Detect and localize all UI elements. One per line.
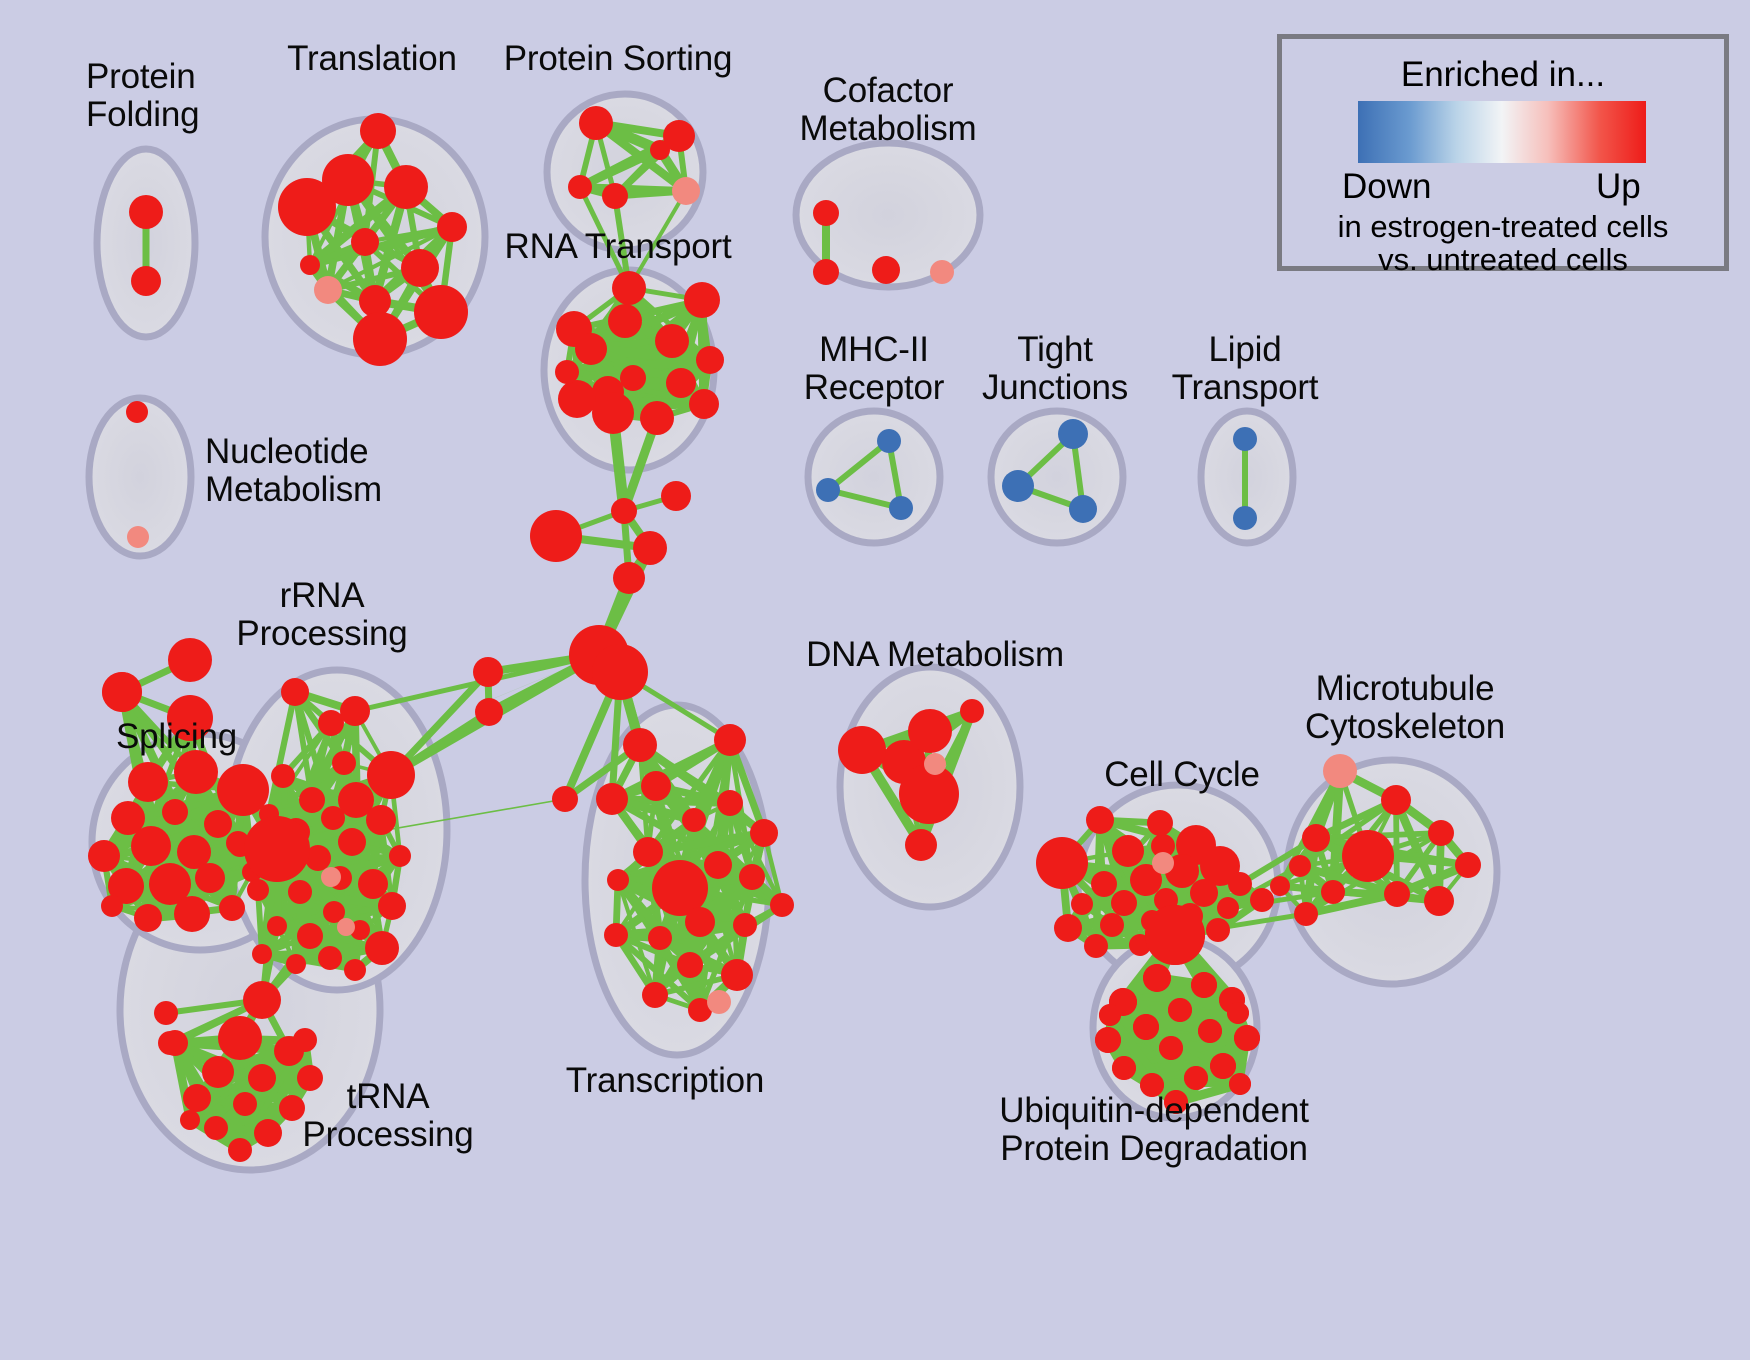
gene-set-node: [131, 266, 161, 296]
gene-set-node: [344, 959, 366, 981]
gene-set-node: [437, 212, 467, 242]
gene-set-node: [707, 990, 731, 1014]
gene-set-node: [1036, 837, 1088, 889]
cluster-label-translation: Translation: [287, 40, 457, 78]
gene-set-node: [162, 799, 188, 825]
gene-set-node: [1147, 810, 1173, 836]
gene-set-node: [568, 175, 592, 199]
gene-set-node: [131, 826, 171, 866]
gene-set-node: [677, 952, 703, 978]
legend-sub-line-2: vs. untreated cells: [1282, 242, 1724, 278]
gene-set-node: [960, 699, 984, 723]
gene-set-node: [608, 304, 642, 338]
gene-set-node: [1342, 830, 1394, 882]
gene-set-node: [655, 324, 689, 358]
gene-set-node: [168, 638, 212, 682]
gene-set-node: [1002, 470, 1034, 502]
gene-set-node: [1091, 871, 1117, 897]
gene-set-node: [1424, 886, 1454, 916]
gene-set-node: [1184, 1066, 1208, 1090]
gene-set-node: [648, 926, 672, 950]
gene-set-node: [314, 276, 342, 304]
gene-set-node: [684, 282, 720, 318]
gene-set-node: [293, 1028, 317, 1052]
gene-set-node: [1233, 427, 1257, 451]
gene-set-node: [1152, 852, 1174, 874]
gene-set-node: [1198, 1019, 1222, 1043]
legend-sub-line-1: in estrogen-treated cells: [1282, 209, 1724, 245]
gene-set-node: [877, 429, 901, 453]
gene-set-node: [102, 672, 142, 712]
gene-set-node: [299, 787, 325, 813]
gene-set-node: [1086, 806, 1114, 834]
gene-set-node: [353, 312, 407, 366]
gene-set-node: [384, 165, 428, 209]
legend-low-label: Down: [1342, 167, 1431, 207]
gene-set-node: [689, 389, 719, 419]
figure-canvas: Protein FoldingTranslationProtein Sortin…: [0, 0, 1750, 1360]
gene-set-node: [642, 982, 668, 1008]
gene-set-node: [183, 1084, 211, 1112]
gene-set-node: [248, 1064, 276, 1092]
gene-set-node: [1233, 506, 1257, 530]
cluster-label-ubiquitin: Ubiquitin-dependent Protein Degradation: [999, 1092, 1309, 1168]
gene-set-node: [1210, 1053, 1236, 1079]
gene-set-node: [1294, 902, 1318, 926]
gene-set-node: [351, 228, 379, 256]
gene-set-node: [650, 140, 670, 160]
cluster-label-mhc-ii: MHC-II Receptor: [804, 331, 944, 407]
gene-set-node: [661, 481, 691, 511]
legend-box: Enriched in... Down Up in estrogen-treat…: [1277, 34, 1729, 271]
gene-set-node: [733, 913, 757, 937]
gene-set-node: [1133, 1014, 1159, 1040]
gene-set-node: [905, 829, 937, 861]
gene-set-node: [555, 360, 579, 384]
cluster-label-protein-sorting: Protein Sorting: [504, 40, 733, 78]
gene-set-node: [174, 896, 210, 932]
gene-set-node: [604, 923, 628, 947]
gene-set-node: [685, 907, 715, 937]
gene-set-node: [204, 1116, 228, 1140]
gene-set-node: [1112, 1056, 1136, 1080]
gene-set-node: [358, 869, 388, 899]
gene-set-node: [279, 1095, 305, 1121]
gene-set-node: [1058, 419, 1088, 449]
gene-set-node: [233, 1092, 257, 1116]
gene-set-node: [620, 365, 646, 391]
gene-set-node: [924, 753, 946, 775]
gene-set-node: [1069, 495, 1097, 523]
gene-set-node: [218, 1016, 262, 1060]
gene-set-node: [288, 880, 312, 904]
gene-set-node: [300, 255, 320, 275]
gene-set-node: [1054, 914, 1082, 942]
gene-set-node: [640, 401, 674, 435]
gene-set-node: [930, 260, 954, 284]
gene-set-node: [714, 724, 746, 756]
gene-set-node: [1145, 905, 1205, 965]
cluster-label-cofactor-metab: Cofactor Metabolism: [800, 72, 977, 148]
gene-set-node: [340, 696, 370, 726]
gene-set-node: [252, 944, 272, 964]
gene-set-node: [180, 1110, 200, 1130]
gene-set-node: [1270, 876, 1290, 896]
gene-set-node: [813, 259, 839, 285]
gene-set-node: [612, 271, 646, 305]
gene-set-node: [267, 916, 287, 936]
gene-set-node: [247, 879, 269, 901]
gene-set-node: [475, 698, 503, 726]
legend-color-bar: [1358, 101, 1646, 163]
cluster-label-rna-transport: RNA Transport: [505, 228, 732, 266]
gene-set-node: [271, 764, 295, 788]
gene-set-node: [318, 710, 344, 736]
gene-set-node: [602, 183, 628, 209]
gene-set-node: [717, 790, 743, 816]
gene-set-node: [367, 751, 415, 799]
cluster-label-protein-folding: Protein Folding: [86, 58, 199, 134]
gene-set-node: [739, 864, 765, 890]
cluster-label-trna-processing: tRNA Processing: [302, 1078, 473, 1154]
gene-set-node: [174, 750, 218, 794]
cluster-label-nucleotide-metab: Nucleotide Metabolism: [205, 433, 382, 509]
gene-set-node: [1250, 888, 1274, 912]
gene-set-node: [286, 954, 306, 974]
cluster-label-microtubule: Microtubule Cytoskeleton: [1305, 670, 1505, 746]
gene-set-node: [128, 762, 168, 802]
gene-set-node: [366, 805, 396, 835]
gene-set-node: [672, 177, 700, 205]
gene-set-node: [592, 392, 634, 434]
gene-set-node: [1321, 880, 1345, 904]
gene-set-node: [1111, 890, 1137, 916]
gene-set-node: [243, 981, 281, 1019]
gene-set-node: [813, 200, 839, 226]
gene-set-node: [228, 1138, 252, 1162]
gene-set-node: [721, 959, 753, 991]
gene-set-node: [530, 510, 582, 562]
gene-set-node: [633, 531, 667, 565]
cluster-ellipse-mhc-ii: [808, 411, 940, 543]
gene-set-node: [1159, 1036, 1183, 1060]
gene-set-node: [337, 918, 355, 936]
gene-set-node: [134, 904, 162, 932]
gene-set-node: [401, 249, 439, 287]
cluster-label-cell-cycle: Cell Cycle: [1104, 756, 1260, 794]
gene-set-node: [1428, 820, 1454, 846]
gene-set-node: [750, 819, 778, 847]
gene-set-node: [254, 1119, 282, 1147]
cluster-label-tight-junctions: Tight Junctions: [982, 331, 1128, 407]
gene-set-node: [332, 751, 356, 775]
gene-set-node: [127, 526, 149, 548]
gene-set-node: [1228, 872, 1252, 896]
gene-set-node: [558, 380, 596, 418]
gene-set-node: [1217, 897, 1239, 919]
gene-set-node: [770, 893, 794, 917]
gene-set-node: [321, 867, 341, 887]
gene-set-node: [889, 496, 913, 520]
legend-title: Enriched in...: [1282, 55, 1724, 95]
gene-set-node: [696, 346, 724, 374]
gene-set-node: [1227, 1002, 1249, 1024]
gene-set-node: [1455, 852, 1481, 878]
gene-set-node: [579, 106, 613, 140]
gene-set-node: [592, 644, 648, 700]
gene-set-node: [204, 810, 232, 838]
cluster-label-dna-metabolism: DNA Metabolism: [806, 636, 1064, 674]
gene-set-node: [1168, 998, 1192, 1022]
gene-set-node: [244, 816, 310, 882]
gene-set-node: [1206, 918, 1230, 942]
gene-set-node: [633, 837, 663, 867]
gene-set-node: [816, 478, 840, 502]
gene-set-node: [838, 726, 886, 774]
gene-set-node: [1084, 934, 1108, 958]
gene-set-node: [129, 195, 163, 229]
gene-set-node: [414, 285, 468, 339]
gene-set-node: [872, 256, 900, 284]
gene-set-node: [359, 285, 391, 317]
cluster-label-rrna-processing: rRNA Processing: [236, 577, 407, 653]
gene-set-node: [1095, 1027, 1121, 1053]
gene-set-node: [338, 828, 366, 856]
gene-set-node: [1381, 785, 1411, 815]
gene-set-node: [1190, 879, 1218, 907]
gene-set-node: [195, 863, 225, 893]
gene-set-node: [378, 892, 406, 920]
gene-set-node: [1100, 913, 1124, 937]
gene-set-node: [596, 783, 628, 815]
gene-set-node: [1323, 754, 1357, 788]
gene-set-node: [1191, 972, 1217, 998]
gene-set-node: [623, 728, 657, 762]
gene-set-node: [908, 709, 952, 753]
gene-set-node: [154, 1001, 178, 1025]
gene-set-node: [202, 1056, 234, 1088]
gene-set-node: [101, 895, 123, 917]
legend-high-label: Up: [1596, 167, 1641, 207]
gene-set-node: [575, 333, 607, 365]
gene-set-node: [607, 869, 629, 891]
gene-set-node: [1384, 881, 1410, 907]
gene-set-node: [1099, 1004, 1121, 1026]
gene-set-node: [704, 851, 732, 879]
cluster-label-transcription: Transcription: [566, 1062, 764, 1100]
gene-set-node: [611, 498, 637, 524]
gene-set-node: [613, 562, 645, 594]
gene-set-node: [219, 895, 245, 921]
gene-set-node: [281, 678, 309, 706]
gene-set-node: [682, 808, 706, 832]
gene-set-node: [666, 368, 696, 398]
gene-set-node: [365, 931, 399, 965]
gene-set-node: [1112, 835, 1144, 867]
gene-set-node: [1071, 893, 1093, 915]
gene-set-node: [1143, 964, 1171, 992]
gene-set-node: [278, 178, 336, 236]
cluster-label-splicing: Splicing: [116, 718, 237, 756]
gene-set-node: [126, 401, 148, 423]
gene-set-node: [297, 923, 323, 949]
gene-set-node: [552, 786, 578, 812]
gene-set-node: [321, 806, 345, 830]
gene-set-node: [318, 946, 342, 970]
gene-set-node: [1234, 1025, 1260, 1051]
gene-set-node: [473, 657, 503, 687]
gene-set-node: [360, 113, 396, 149]
gene-set-node: [88, 840, 120, 872]
gene-set-node: [158, 1031, 182, 1055]
gene-set-node: [641, 771, 671, 801]
gene-set-node: [389, 845, 411, 867]
gene-set-node: [1289, 855, 1311, 877]
gene-set-node: [1302, 824, 1330, 852]
cluster-label-lipid-transport: Lipid Transport: [1172, 331, 1319, 407]
